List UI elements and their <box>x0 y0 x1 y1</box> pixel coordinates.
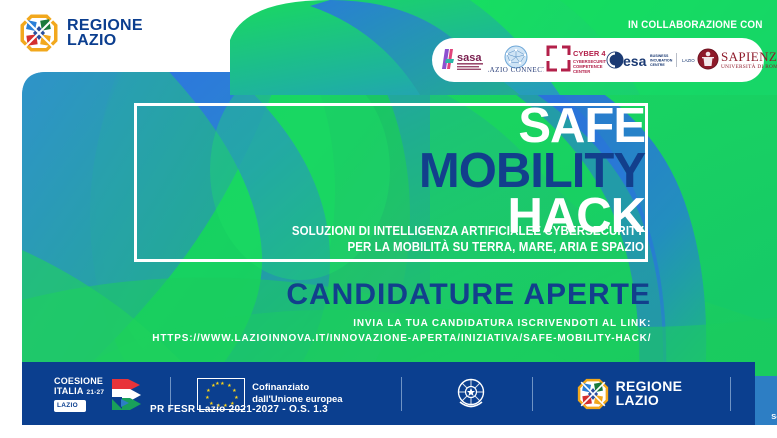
coesione-years: 21-27 <box>87 388 105 398</box>
poster-canvas: REGIONE LAZIO IN COLLABORAZIONE CON sasa <box>0 0 777 438</box>
title-line-mobility: MOBILITY <box>105 149 645 194</box>
coesione-arrow-icon <box>108 377 142 411</box>
svg-text:esa: esa <box>623 53 647 69</box>
repubblica-italiana-emblem-icon <box>454 375 488 413</box>
soggetto-attuatore-label: Soggetto Attuatore <box>771 412 777 421</box>
svg-text:LAZIO: LAZIO <box>682 58 695 63</box>
cta-url[interactable]: HTTPS://WWW.LAZIOINNOVA.IT/INNOVAZIONE-A… <box>152 331 651 346</box>
hero-subtitle: SOLUZIONI DI INTELLIGENZA ARTIFICIALEE C… <box>129 223 644 255</box>
brand-line-1: REGIONE <box>67 18 143 33</box>
collaboration-label: IN COLLABORAZIONE CON <box>628 19 763 31</box>
footer-logo-regione-lazio: REGIONE LAZIO <box>577 378 683 410</box>
footer-logo-lazio-innova: LAZIO INNOVA Soggetto Attuatore <box>771 367 777 421</box>
subtitle-line-1: SOLUZIONI DI INTELLIGENZA ARTIFICIALEE C… <box>129 223 644 239</box>
svg-text:UNIVERSITÀ DI ROMA: UNIVERSITÀ DI ROMA <box>721 62 777 70</box>
svg-text:sasa: sasa <box>457 52 482 64</box>
brand-line-2: LAZIO <box>67 33 143 48</box>
footer-regione-line-2: LAZIO <box>616 394 683 408</box>
cta-instruction: INVIA LA TUA CANDIDATURA ISCRIVENDOTI AL… <box>152 316 651 331</box>
programme-label: PR FESR Lazio 2021-2027 - O.S. 1.3 <box>150 404 328 415</box>
regione-lazio-logo: REGIONE LAZIO <box>20 14 143 52</box>
svg-text:CENTRE: CENTRE <box>650 63 665 67</box>
footer-logo-coesione: COESIONE ITALIA 21-27 LAZIO <box>54 376 142 412</box>
partner-logo-esa-bic: BUSINESS INCUBATION CENTRE LAZIO <box>650 43 696 77</box>
footer-divider-3 <box>532 377 533 411</box>
footer-logo-repubblica <box>454 375 488 413</box>
title-line-safe: SAFE <box>105 104 645 149</box>
svg-text:CYBER 4.0: CYBER 4.0 <box>573 49 606 58</box>
regione-lazio-footer-mark-icon <box>577 378 609 410</box>
hero-title: SAFE MOBILITY HACK <box>105 104 645 239</box>
partner-logo-esa: esa <box>606 43 650 77</box>
partner-logo-cyber-4-0: CYBER 4.0 CYBERSECURITY COMPETENCE CENTE… <box>544 43 606 77</box>
svg-text:BUSINESS: BUSINESS <box>650 54 669 58</box>
eu-text-line-1: Cofinanziato <box>252 382 342 394</box>
cta-link-block: INVIA LA TUA CANDIDATURA ISCRIVENDOTI AL… <box>152 316 651 346</box>
subtitle-line-2: PER LA MOBILITÀ SU TERRA, MARE, ARIA E S… <box>129 239 644 255</box>
coesione-region: LAZIO <box>54 400 86 412</box>
svg-text:CENTER: CENTER <box>573 69 590 74</box>
partner-logo-sapienza: SAPIENZA UNIVERSITÀ DI ROMA <box>696 43 777 77</box>
svg-text:INCUBATION: INCUBATION <box>650 59 673 63</box>
coesione-line-2: ITALIA <box>54 386 84 396</box>
partner-logo-sasa: sasa <box>442 43 488 77</box>
svg-text:SAPIENZA: SAPIENZA <box>721 49 777 64</box>
partner-logo-bar: sasa LAZIO CONNECT <box>432 38 764 82</box>
footer-bar: COESIONE ITALIA 21-27 LAZIO <box>22 362 755 425</box>
footer-divider-2 <box>401 377 402 411</box>
regione-lazio-wordmark: REGIONE LAZIO <box>67 18 143 48</box>
svg-text:LAZIO CONNECT: LAZIO CONNECT <box>488 66 544 74</box>
footer-divider-4 <box>730 377 731 411</box>
partner-logo-lazio-connect: LAZIO CONNECT <box>488 43 544 77</box>
cta-heading: CANDIDATURE APERTE <box>286 278 651 312</box>
coesione-line-1: COESIONE <box>54 376 103 386</box>
regione-lazio-mark-icon <box>20 14 58 52</box>
